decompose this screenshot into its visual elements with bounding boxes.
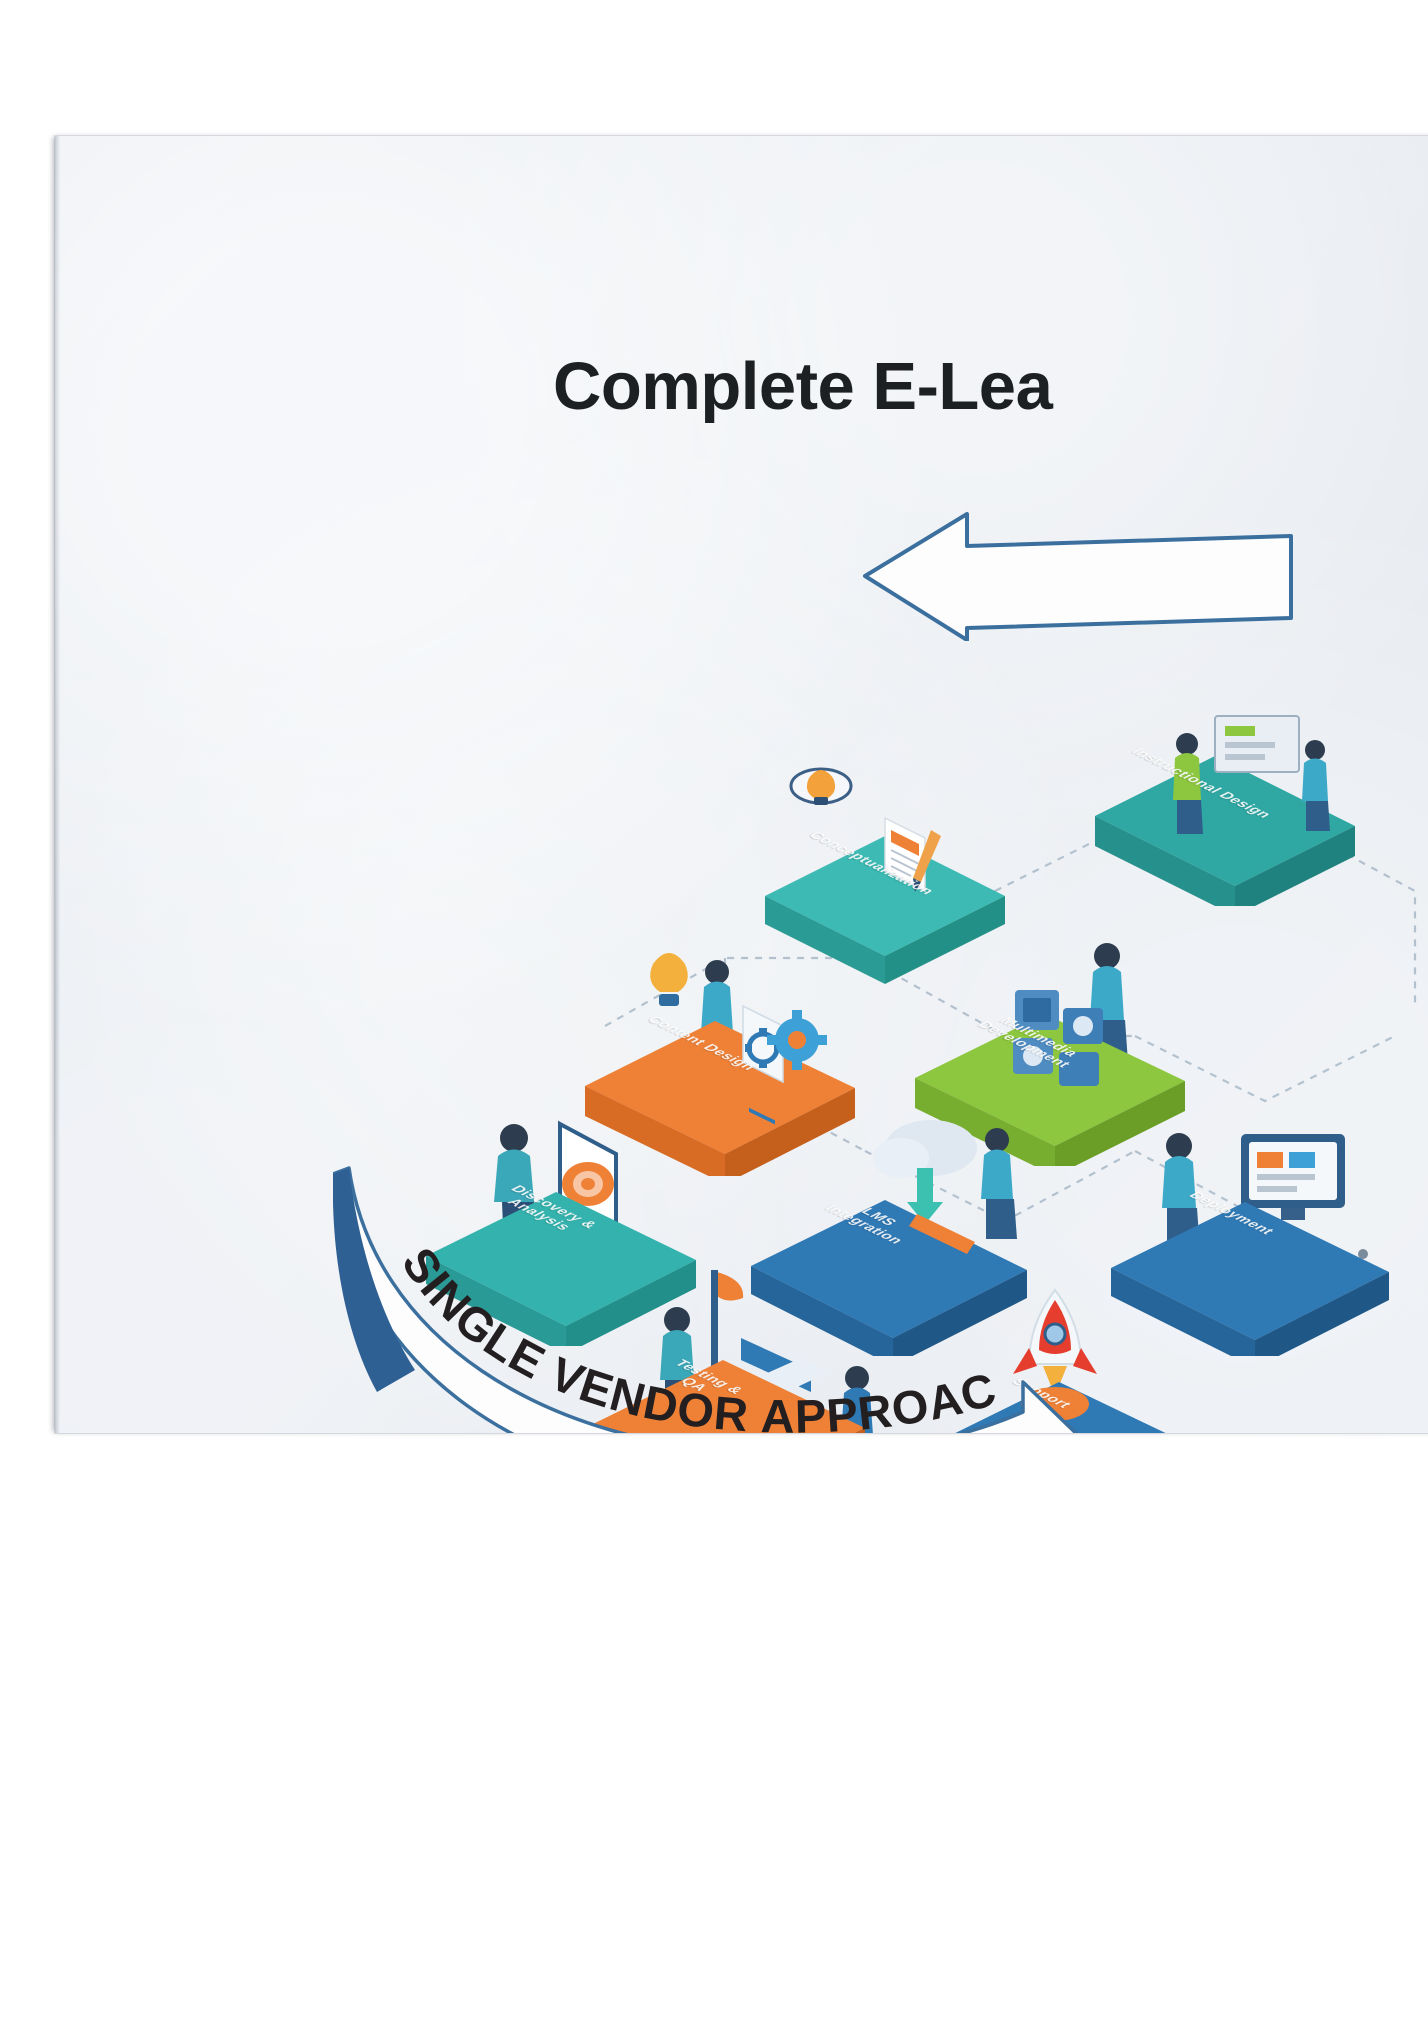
monitor-code-icon bbox=[1241, 1134, 1345, 1220]
tile-conceptualization[interactable]: Conceptualization bbox=[735, 756, 975, 946]
banner-label: SINGLE VENDOR APPROACH bbox=[333, 1156, 1002, 1433]
lightbulb-icon bbox=[650, 953, 688, 1006]
document-page[interactable]: Complete E-Lea bbox=[55, 136, 1428, 1433]
page-title: Complete E-Lea bbox=[553, 348, 1052, 425]
single-vendor-approach-banner: SINGLE VENDOR APPROACH bbox=[333, 1156, 1033, 1433]
tile-deployment[interactable]: Deployment bbox=[1095, 1106, 1335, 1296]
screenshot-viewport: Complete E-Lea bbox=[0, 0, 1428, 2018]
lightbulb-icon bbox=[791, 769, 851, 805]
tile-instructional-design[interactable]: Instructional Design bbox=[1065, 676, 1305, 866]
tile-multimedia-development[interactable]: Multimedia Development bbox=[895, 926, 1135, 1116]
